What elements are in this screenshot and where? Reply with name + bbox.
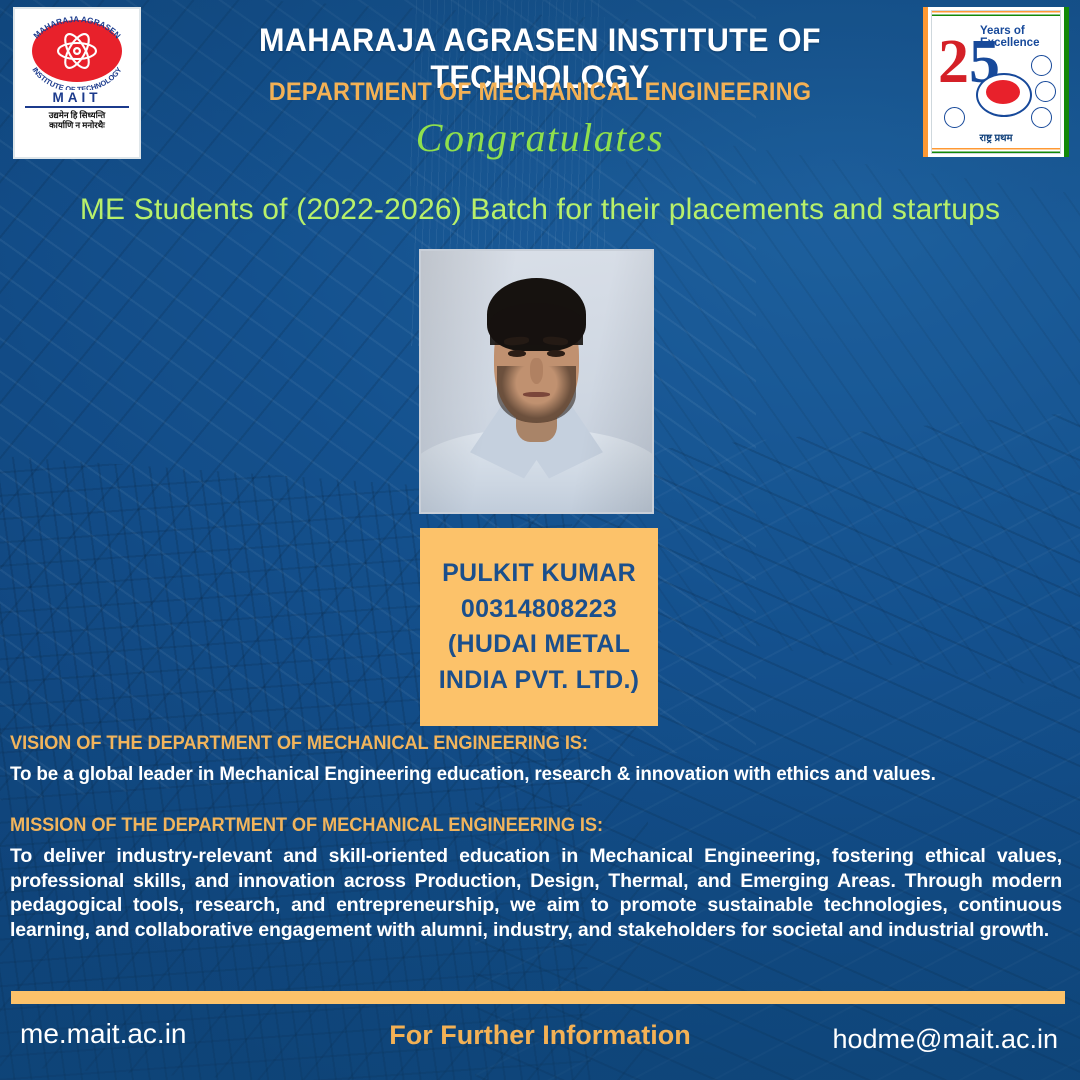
svg-text:MAHARAJA AGRASEN: MAHARAJA AGRASEN (32, 15, 122, 40)
photo-shading (421, 251, 652, 512)
mission-body: To deliver industry-relevant and skill-o… (10, 844, 1068, 943)
numeral-2: 2 (938, 28, 969, 96)
tricolor-stripe-top (932, 11, 1060, 16)
congratulates-script: Congratulates (0, 118, 1080, 158)
mission-section: MISSION OF THE DEPARTMENT OF MECHANICAL … (10, 815, 1068, 943)
footer-accent-bar (11, 991, 1065, 1004)
footer-contact-row: me.mait.ac.in For Further Information ho… (0, 1010, 1080, 1070)
batch-subtitle: ME Students of (2022-2026) Batch for the… (0, 193, 1080, 227)
student-roll-number: 00314808223 (461, 592, 617, 628)
poster-header: MAHARAJA AGRASEN INSTITUTE OF TECHNOLOGY… (0, 0, 1080, 172)
mission-heading: MISSION OF THE DEPARTMENT OF MECHANICAL … (10, 815, 1026, 837)
vision-section: VISION OF THE DEPARTMENT OF MECHANICAL E… (10, 733, 1068, 787)
mait-emblem-icon: MAHARAJA AGRASEN INSTITUTE OF TECHNOLOGY (24, 14, 130, 90)
vision-mission-block: VISION OF THE DEPARTMENT OF MECHANICAL E… (10, 733, 1068, 943)
student-details-card: PULKIT KUMAR 00314808223 (HUDAI METAL IN… (420, 528, 658, 726)
vision-body: To be a global leader in Mechanical Engi… (10, 762, 1031, 787)
svg-text:INSTITUTE OF TECHNOLOGY: INSTITUTE OF TECHNOLOGY (30, 65, 123, 90)
accreditation-badge-2 (1035, 81, 1056, 102)
student-name: PULKIT KUMAR (442, 556, 636, 592)
mait-divider (25, 106, 129, 108)
mates-emblem-icon (976, 73, 1032, 117)
student-company-line1: (HUDAI METAL (448, 627, 630, 663)
student-photo (419, 249, 654, 514)
accreditation-badge-1 (1031, 55, 1052, 76)
mait-acronym: MAIT (53, 91, 102, 105)
vision-heading: VISION OF THE DEPARTMENT OF MECHANICAL E… (10, 733, 1026, 755)
mates-emblem-core (986, 80, 1020, 104)
student-company-line2: INDIA PVT. LTD.) (439, 663, 640, 699)
footer-email[interactable]: hodme@mait.ac.in (832, 1024, 1058, 1055)
mait-arc-text-icon: MAHARAJA AGRASEN INSTITUTE OF TECHNOLOGY (24, 14, 130, 90)
department-title: DEPARTMENT OF MECHANICAL ENGINEERING (183, 78, 897, 107)
placement-poster: MAHARAJA AGRASEN INSTITUTE OF TECHNOLOGY… (0, 0, 1080, 1080)
